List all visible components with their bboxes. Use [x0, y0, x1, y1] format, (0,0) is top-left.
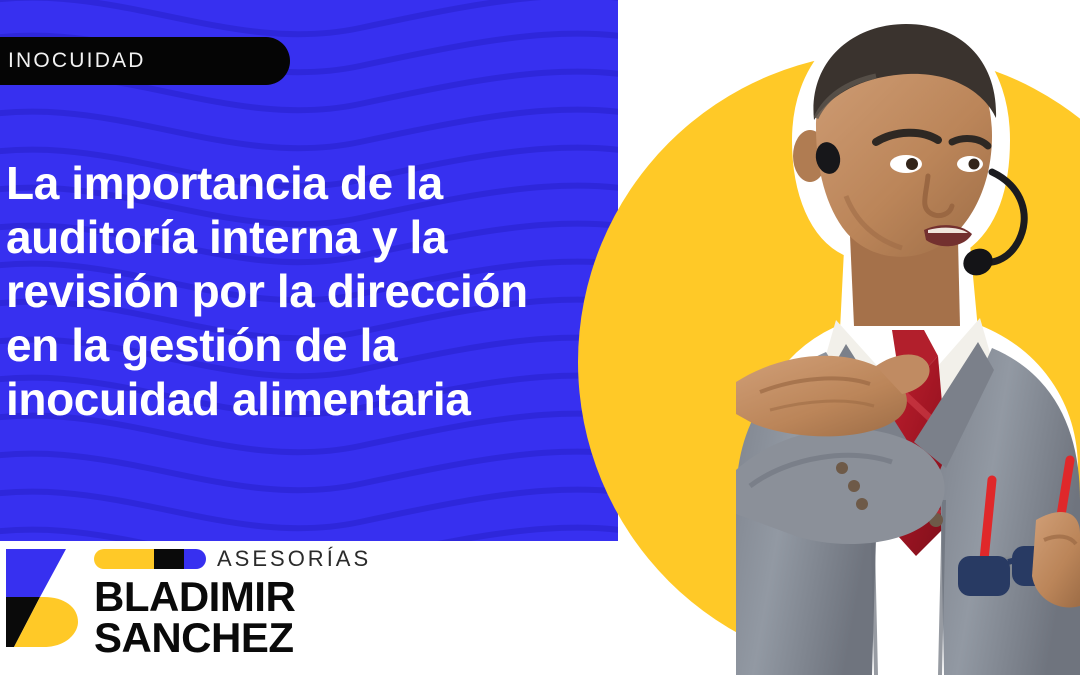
category-badge-label: INOCUIDAD — [8, 49, 146, 73]
logo-wordmark: ASESORÍAS BLADIMIR SANCHEZ — [94, 545, 371, 658]
title-line-3: revisión por la dirección — [6, 264, 586, 318]
logo-blue-shape — [6, 549, 66, 597]
category-badge: INOCUIDAD — [0, 37, 290, 85]
title-line-4: en la gestión de la — [6, 318, 586, 372]
presenter-photo — [640, 0, 1080, 675]
title-line-2: auditoría interna y la — [6, 210, 586, 264]
pill-segment-yellow — [94, 549, 154, 569]
slide-title: La importancia de la auditoría interna y… — [6, 156, 586, 426]
presentation-slide: INOCUIDAD La importancia de la auditoría… — [0, 0, 1080, 675]
logo-name-first: BLADIMIR — [94, 576, 371, 617]
title-line-1: La importancia de la — [6, 156, 586, 210]
pill-segment-blue — [184, 549, 206, 569]
logo-mark-icon — [4, 545, 80, 651]
logo-name-last: SANCHEZ — [94, 617, 371, 658]
pill-segment-black — [154, 549, 183, 569]
title-line-5: inocuidad alimentaria — [6, 372, 586, 426]
logo-tagline-row: ASESORÍAS — [94, 548, 371, 570]
brand-logo: ASESORÍAS BLADIMIR SANCHEZ — [4, 545, 364, 663]
tricolor-pill-icon — [94, 549, 206, 569]
logo-tagline: ASESORÍAS — [217, 546, 371, 572]
